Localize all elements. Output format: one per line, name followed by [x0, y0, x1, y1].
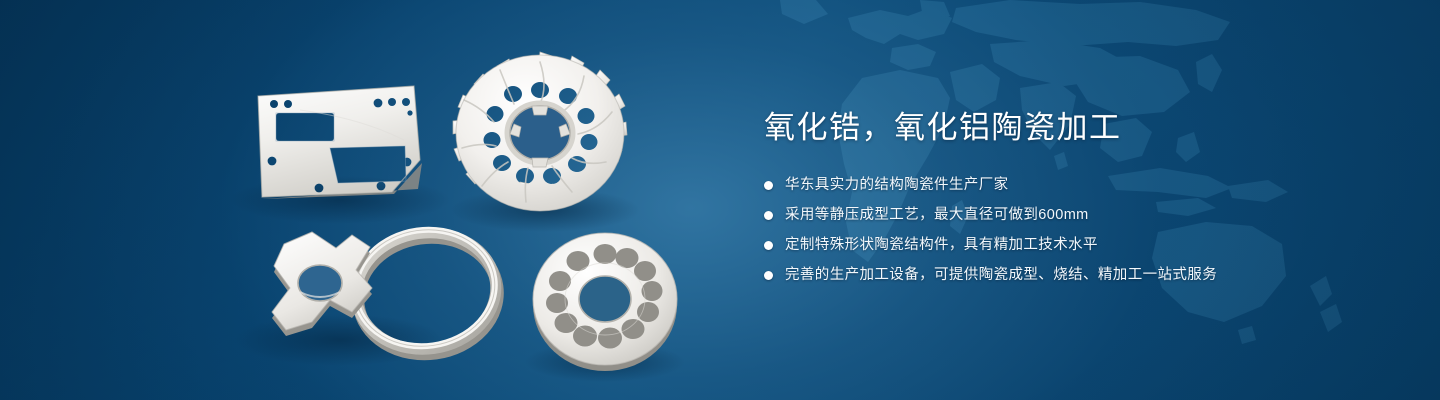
- bullet-dot-icon: [764, 241, 773, 250]
- bullet-dot-icon: [764, 181, 773, 190]
- ceramic-machined-plate: [250, 80, 436, 206]
- bullet-dot-icon: [764, 271, 773, 280]
- product-photo-group: [0, 0, 760, 400]
- list-item: 华东具实力的结构陶瓷件生产厂家: [764, 174, 1404, 196]
- list-item-label: 华东具实力的结构陶瓷件生产厂家: [785, 174, 1009, 196]
- ceramic-perforated-disc: [530, 230, 680, 371]
- list-item-label: 定制特殊形状陶瓷结构件，具有精加工技术水平: [785, 234, 1098, 256]
- list-item-label: 采用等静压成型工艺，最大直径可做到600mm: [785, 204, 1089, 226]
- page-title: 氧化锆，氧化铝陶瓷加工: [764, 108, 1404, 148]
- feature-list: 华东具实力的结构陶瓷件生产厂家 采用等静压成型工艺，最大直径可做到600mm 定…: [764, 174, 1404, 286]
- ceramic-cross-plate: [260, 226, 385, 336]
- banner-copy: 氧化锆，氧化铝陶瓷加工 华东具实力的结构陶瓷件生产厂家 采用等静压成型工艺，最大…: [764, 108, 1404, 286]
- bullet-dot-icon: [764, 211, 773, 220]
- ceramic-impeller-rotor: [450, 50, 630, 216]
- list-item: 完善的生产加工设备，可提供陶瓷成型、烧结、精加工一站式服务: [764, 264, 1404, 286]
- list-item-label: 完善的生产加工设备，可提供陶瓷成型、烧结、精加工一站式服务: [785, 264, 1217, 286]
- hero-banner: 氧化锆，氧化铝陶瓷加工 华东具实力的结构陶瓷件生产厂家 采用等静压成型工艺，最大…: [0, 0, 1440, 400]
- list-item: 定制特殊形状陶瓷结构件，具有精加工技术水平: [764, 234, 1404, 256]
- list-item: 采用等静压成型工艺，最大直径可做到600mm: [764, 204, 1404, 226]
